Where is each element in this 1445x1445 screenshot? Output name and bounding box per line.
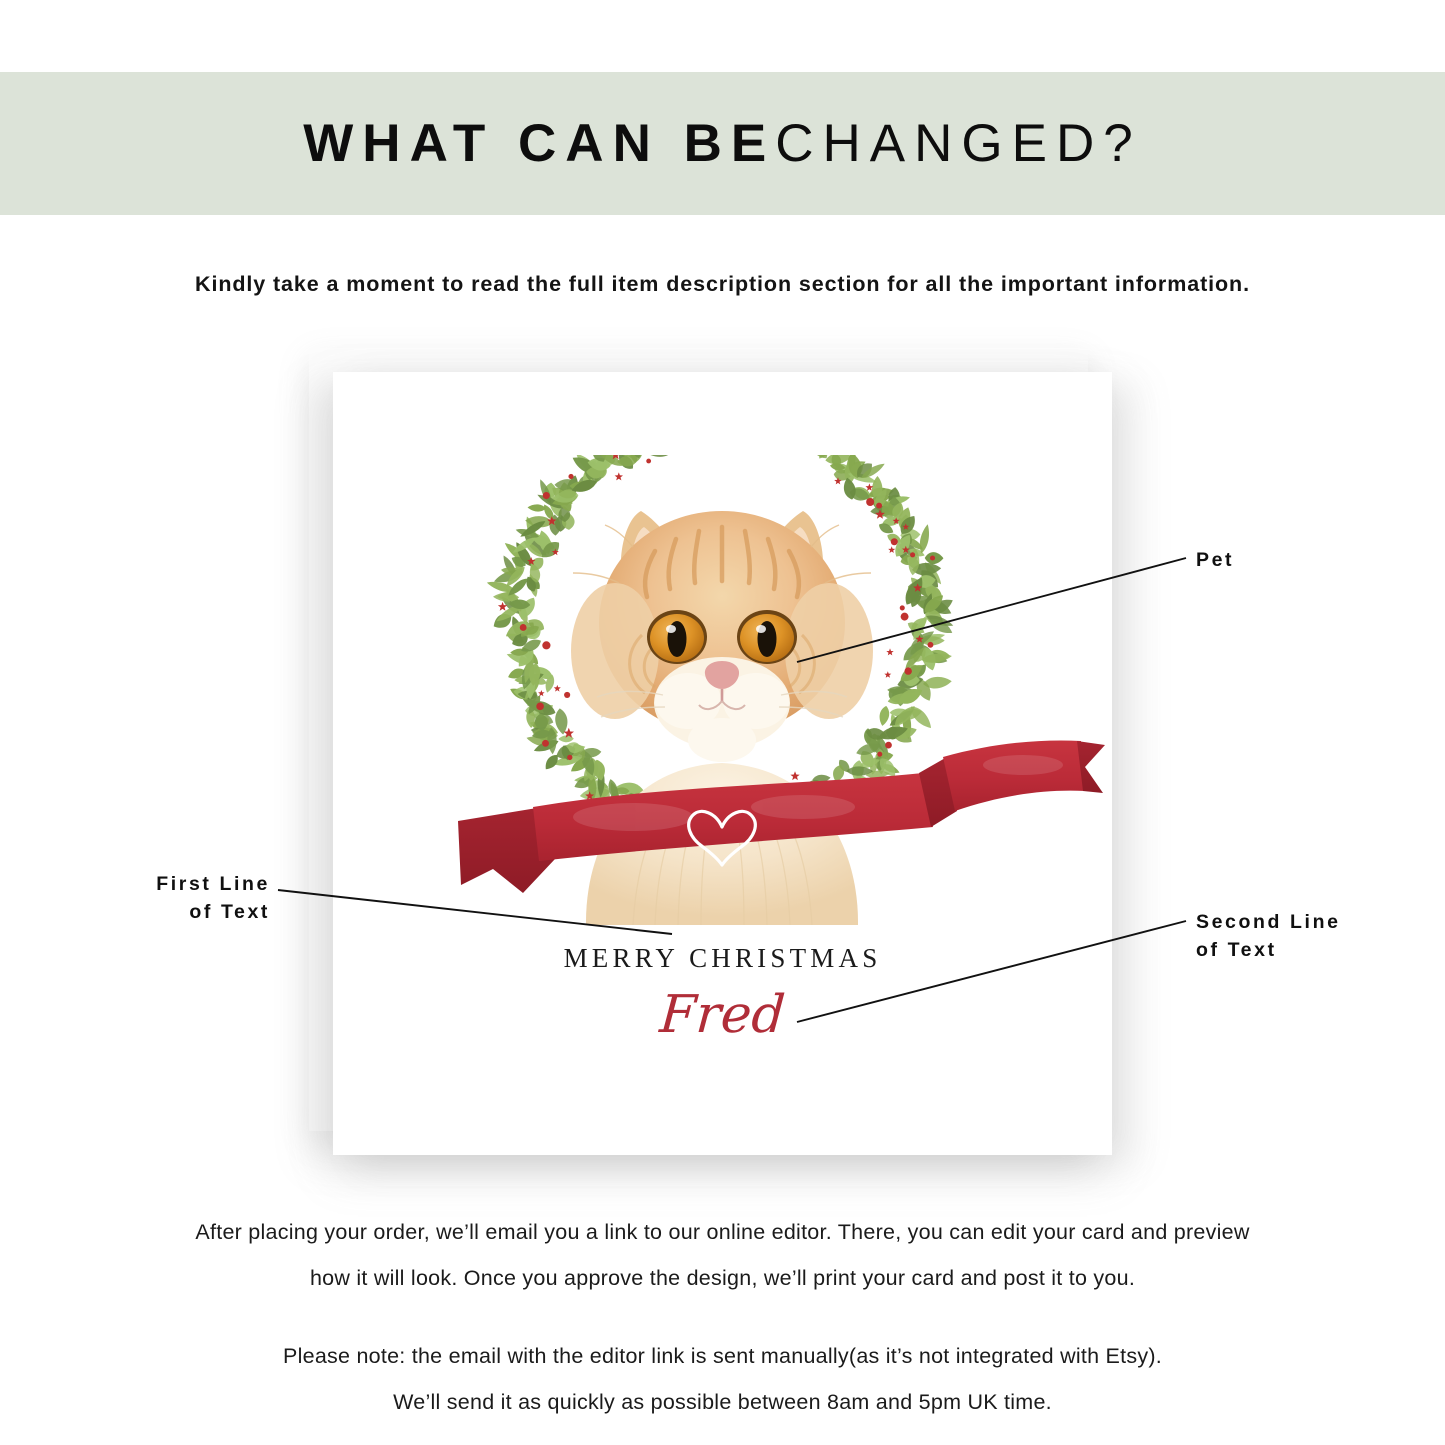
subtitle-note: Kindly take a moment to read the full it… bbox=[0, 272, 1445, 297]
footer-paragraph-1-line-1: After placing your order, we’ll email yo… bbox=[0, 1209, 1445, 1255]
page-title-light: CHANGED? bbox=[775, 114, 1142, 173]
annotation-label-first-line: First Line of Text bbox=[60, 870, 270, 927]
footer-paragraph-1-line-2: how it will look. Once you approve the d… bbox=[0, 1255, 1445, 1301]
footer-paragraph-2-line-2: We’ll send it as quickly as possible bet… bbox=[0, 1379, 1445, 1425]
footer-paragraph-2-line-1: Please note: the email with the editor l… bbox=[0, 1333, 1445, 1379]
page-title-strong: WHAT CAN BE bbox=[303, 114, 775, 173]
card-artwork bbox=[333, 455, 1112, 925]
footer-paragraph-1: After placing your order, we’ll email yo… bbox=[0, 1209, 1445, 1301]
cat-eye-right bbox=[737, 610, 797, 664]
page-title: WHAT CAN BECHANGED? bbox=[303, 117, 1141, 170]
annotation-label-pet: Pet bbox=[1196, 546, 1234, 574]
cat-eye-left bbox=[647, 610, 707, 664]
annotation-label-second-line: Second Line of Text bbox=[1196, 908, 1341, 965]
header-banner: WHAT CAN BECHANGED? bbox=[0, 72, 1445, 215]
card-text-line-2: Fred bbox=[331, 985, 1114, 1045]
card-text-line-1: MERRY CHRISTMAS bbox=[333, 943, 1112, 974]
footer-paragraph-2: Please note: the email with the editor l… bbox=[0, 1333, 1445, 1425]
